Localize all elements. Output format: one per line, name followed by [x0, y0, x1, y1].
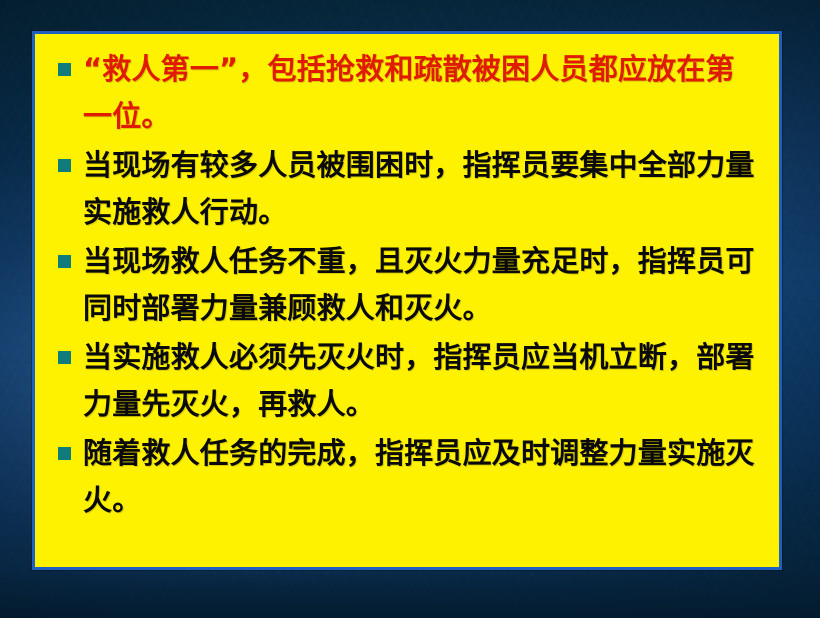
square-bullet-icon — [45, 430, 83, 460]
bullet-item-label: 当实施救人必须先灭火时，指挥员应当机立断，部署力量先灭火，再救人。 — [83, 334, 765, 428]
bullet-list: “救人第一”，包括抢救和疏散被困人员都应放在第一位。 当现场有较多人员被围困时，… — [45, 46, 765, 524]
list-item: 随着救人任务的完成，指挥员应及时调整力量实施灭火。 — [45, 430, 765, 524]
square-bullet-icon — [45, 46, 83, 76]
square-bullet-icon — [45, 142, 83, 172]
slide-bottom-band — [0, 570, 820, 618]
slide-canvas: “救人第一”，包括抢救和疏散被困人员都应放在第一位。 当现场有较多人员被围困时，… — [0, 0, 820, 618]
bullet-item-label: 随着救人任务的完成，指挥员应及时调整力量实施灭火。 — [83, 430, 765, 524]
square-bullet-icon — [45, 238, 83, 268]
list-item: 当现场救人任务不重，且灭火力量充足时，指挥员可同时部署力量兼顾救人和灭火。 — [45, 238, 765, 332]
bullet-item-label: “救人第一”，包括抢救和疏散被困人员都应放在第一位。 — [83, 46, 765, 140]
bullet-item-label: 当现场有较多人员被围困时，指挥员要集中全部力量实施救人行动。 — [83, 142, 765, 236]
list-item: 当现场有较多人员被围困时，指挥员要集中全部力量实施救人行动。 — [45, 142, 765, 236]
list-item: “救人第一”，包括抢救和疏散被困人员都应放在第一位。 — [45, 46, 765, 140]
content-box: “救人第一”，包括抢救和疏散被困人员都应放在第一位。 当现场有较多人员被围困时，… — [32, 31, 782, 570]
list-item: 当实施救人必须先灭火时，指挥员应当机立断，部署力量先灭火，再救人。 — [45, 334, 765, 428]
bullet-item-label: 当现场救人任务不重，且灭火力量充足时，指挥员可同时部署力量兼顾救人和灭火。 — [83, 238, 765, 332]
square-bullet-icon — [45, 334, 83, 364]
